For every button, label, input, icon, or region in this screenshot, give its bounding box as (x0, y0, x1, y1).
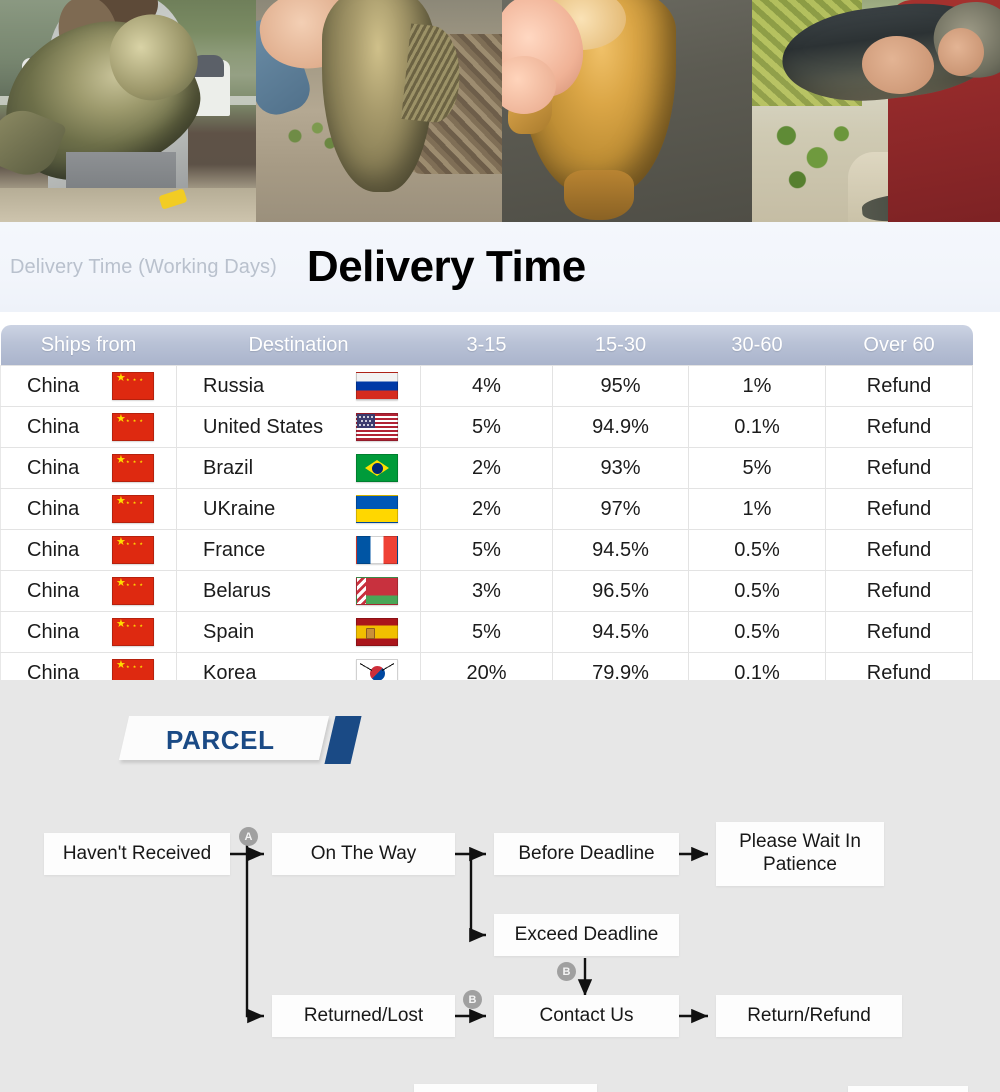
flow-node-label: Before Deadline (518, 843, 654, 866)
ships-from-label: China (27, 457, 79, 480)
ships-from-label: China (27, 539, 79, 562)
flow-node-label: Haven't Received (63, 843, 211, 866)
cell-3-15: 5% (421, 530, 553, 571)
flow-badge-label: B (563, 966, 571, 978)
flow-node-label: On The Way (311, 843, 417, 866)
cell-over-60: Refund (826, 612, 973, 653)
cell-15-30: 97% (553, 489, 689, 530)
ships-from-label: China (27, 375, 79, 398)
cell-ships-from: China (1, 366, 177, 407)
cell-15-30: 94.5% (553, 530, 689, 571)
flag-cn-icon (112, 536, 154, 564)
cell-ships-from: China (1, 530, 177, 571)
flag-cn-icon (112, 454, 154, 482)
cell-30-60: 0.5% (689, 571, 826, 612)
flow-node-contact-us[interactable]: Contact Us (494, 995, 679, 1037)
flow-node-please-wait-in-patience[interactable]: Please Wait In Patience (716, 822, 884, 886)
cell-over-60: Refund (826, 489, 973, 530)
flow-node-stub-left (414, 1084, 597, 1092)
table-body: ChinaRussia4%95%1%RefundChinaUnited Stat… (1, 366, 973, 694)
cell-30-60: 0.5% (689, 530, 826, 571)
cell-3-15: 3% (421, 571, 553, 612)
flow-badge-b-exceed-deadline: B (557, 962, 576, 981)
table-row: ChinaBelarus3%96.5%0.5%Refund (1, 571, 973, 612)
flag-cn-icon (112, 577, 154, 605)
flow-node-label: Please Wait In Patience (724, 831, 876, 877)
flag-cn-icon (112, 372, 154, 400)
flag-br-icon (356, 454, 398, 482)
cell-destination: Brazil (177, 448, 421, 489)
delivery-time-table-wrapper: Ships from Destination 3-15 15-30 30-60 … (0, 312, 1000, 694)
table-head: Ships from Destination 3-15 15-30 30-60 … (1, 325, 973, 366)
flag-es-icon (356, 618, 398, 646)
cell-3-15: 5% (421, 407, 553, 448)
flow-node-label: Exceed Deadline (515, 924, 659, 947)
ships-from-label: China (27, 416, 79, 439)
delivery-time-table: Ships from Destination 3-15 15-30 30-60 … (0, 325, 973, 694)
cell-ships-from: China (1, 407, 177, 448)
flag-cn-icon (112, 495, 154, 523)
flow-node-exceed-deadline[interactable]: Exceed Deadline (494, 914, 679, 956)
cell-destination: United States (177, 407, 421, 448)
cell-ships-from: China (1, 571, 177, 612)
photo-smallmouth-bass-held-over-dirt (256, 0, 502, 222)
flag-cn-icon (112, 413, 154, 441)
cell-15-30: 95% (553, 366, 689, 407)
table-row: ChinaUnited States5%94.9%0.1%Refund (1, 407, 973, 448)
cell-destination: Spain (177, 612, 421, 653)
ships-from-label: China (27, 580, 79, 603)
flow-node-label: Contact Us (540, 1005, 634, 1028)
flow-badge-a: A (239, 827, 258, 846)
flow-node-havent-received[interactable]: Haven't Received (44, 833, 230, 875)
cell-3-15: 4% (421, 366, 553, 407)
destination-label: Belarus (203, 580, 271, 603)
column-header-3-15: 3-15 (421, 325, 553, 366)
cell-3-15: 5% (421, 612, 553, 653)
cell-ships-from: China (1, 612, 177, 653)
cell-3-15: 2% (421, 489, 553, 530)
destination-label: France (203, 539, 265, 562)
cell-30-60: 1% (689, 489, 826, 530)
flow-node-before-deadline[interactable]: Before Deadline (494, 833, 679, 875)
cell-ships-from: China (1, 489, 177, 530)
flow-node-label: Returned/Lost (304, 1005, 423, 1028)
flow-badge-label: B (469, 994, 477, 1006)
cell-destination: UKraine (177, 489, 421, 530)
cell-15-30: 93% (553, 448, 689, 489)
column-header-15-30: 15-30 (553, 325, 689, 366)
flag-cn-icon (112, 618, 154, 646)
flag-us-icon (356, 413, 398, 441)
fish-photo-strip (0, 0, 1000, 222)
delivery-time-banner: Delivery Time (Working Days) Delivery Ti… (0, 222, 1000, 313)
parcel-section: PARCEL (0, 680, 1000, 1092)
cell-30-60: 0.1% (689, 407, 826, 448)
parcel-flowchart: Haven't Received On The Way Before Deadl… (0, 680, 1000, 1092)
flag-ua-icon (356, 495, 398, 523)
flow-badge-label: A (245, 831, 253, 843)
column-header-30-60: 30-60 (689, 325, 826, 366)
flag-fr-icon (356, 536, 398, 564)
table-row: ChinaFrance5%94.5%0.5%Refund (1, 530, 973, 571)
column-header-destination: Destination (177, 325, 421, 366)
cell-destination: France (177, 530, 421, 571)
cell-destination: Belarus (177, 571, 421, 612)
table-row: ChinaSpain5%94.5%0.5%Refund (1, 612, 973, 653)
destination-label: Spain (203, 621, 254, 644)
ships-from-label: China (27, 498, 79, 521)
flow-node-label: Return/Refund (747, 1005, 871, 1028)
table-row: ChinaUKraine2%97%1%Refund (1, 489, 973, 530)
destination-label: United States (203, 416, 323, 439)
destination-label: Russia (203, 375, 264, 398)
cell-15-30: 94.9% (553, 407, 689, 448)
flow-node-on-the-way[interactable]: On The Way (272, 833, 455, 875)
cell-15-30: 94.5% (553, 612, 689, 653)
photo-dark-bass-held-by-person-in-red-shirt (752, 0, 1000, 222)
column-header-over-60: Over 60 (826, 325, 973, 366)
destination-label: Brazil (203, 457, 253, 480)
table-row: ChinaRussia4%95%1%Refund (1, 366, 973, 407)
ships-from-label: China (27, 621, 79, 644)
flow-badge-b-returned-lost: B (463, 990, 482, 1009)
cell-over-60: Refund (826, 407, 973, 448)
flow-node-return-refund[interactable]: Return/Refund (716, 995, 902, 1037)
cell-ships-from: China (1, 448, 177, 489)
flow-node-returned-lost[interactable]: Returned/Lost (272, 995, 455, 1037)
photo-golden-fish-closeup-held (502, 0, 752, 222)
flow-node-stub-right (848, 1086, 968, 1092)
cell-30-60: 0.5% (689, 612, 826, 653)
table-header-row: Ships from Destination 3-15 15-30 30-60 … (1, 325, 973, 366)
cell-destination: Russia (177, 366, 421, 407)
cell-over-60: Refund (826, 530, 973, 571)
product-detail-page: Delivery Time (Working Days) Delivery Ti… (0, 0, 1000, 1092)
cell-30-60: 5% (689, 448, 826, 489)
cell-30-60: 1% (689, 366, 826, 407)
cell-over-60: Refund (826, 571, 973, 612)
destination-label: UKraine (203, 498, 275, 521)
column-header-ships-from: Ships from (1, 325, 177, 366)
flag-ru-icon (356, 372, 398, 400)
photo-largemouth-bass-held-by-lake (0, 0, 256, 222)
cell-over-60: Refund (826, 366, 973, 407)
table-row: ChinaBrazil2%93%5%Refund (1, 448, 973, 489)
cell-over-60: Refund (826, 448, 973, 489)
cell-3-15: 2% (421, 448, 553, 489)
delivery-time-title: Delivery Time (307, 242, 586, 292)
cell-15-30: 96.5% (553, 571, 689, 612)
flag-by-icon (356, 577, 398, 605)
delivery-time-subtitle: Delivery Time (Working Days) (10, 256, 277, 279)
